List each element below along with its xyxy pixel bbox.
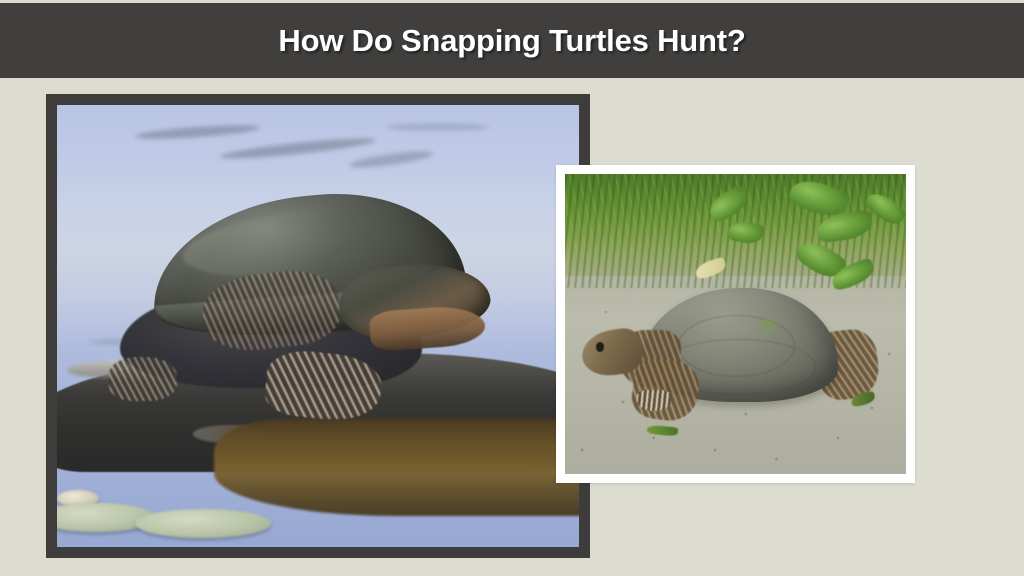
photo-left-frame bbox=[46, 94, 590, 558]
page-title: How Do Snapping Turtles Hunt? bbox=[278, 23, 745, 59]
turtle-claws bbox=[637, 390, 671, 411]
photo-snapping-turtle-on-gravel bbox=[565, 174, 906, 474]
turtle-eye bbox=[596, 342, 604, 352]
turtle-water-reflection bbox=[214, 419, 579, 516]
title-banner: How Do Snapping Turtles Hunt? bbox=[0, 3, 1024, 78]
photo-snapping-turtle-on-rock bbox=[57, 105, 579, 547]
photo-right-frame bbox=[556, 165, 915, 483]
turtle-rear-foot bbox=[109, 357, 177, 401]
slide-canvas: How Do Snapping Turtles Hunt? bbox=[0, 0, 1024, 576]
lily-pad bbox=[135, 509, 271, 538]
carapace-moss bbox=[756, 315, 780, 336]
water-smudge bbox=[386, 123, 490, 131]
